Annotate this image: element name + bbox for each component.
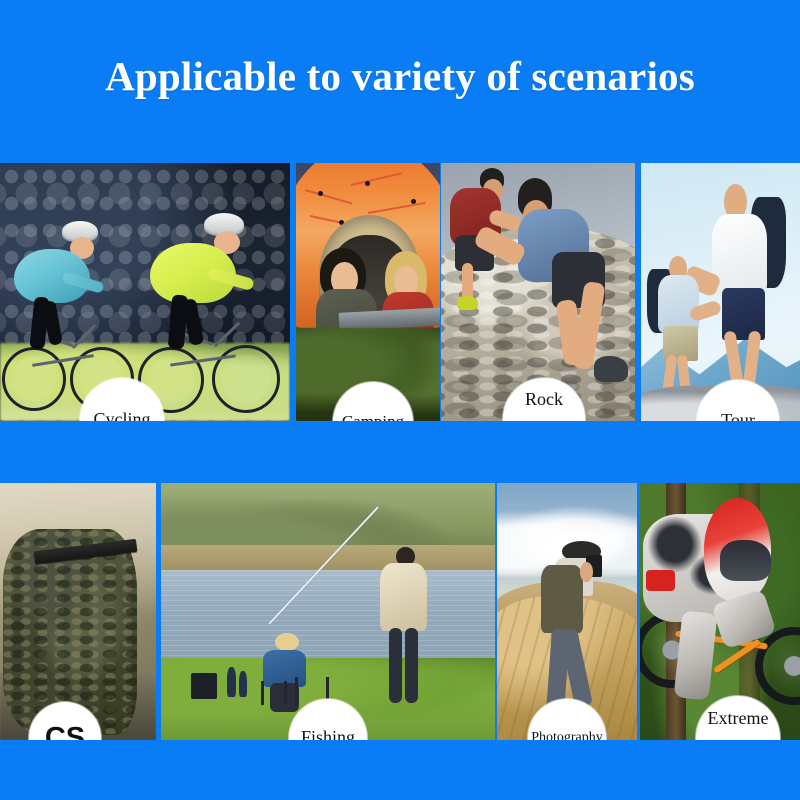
scenario-label-text: CS [43,723,87,740]
scenario-label-text: Rock climbing [508,390,580,421]
scenario-panel-extreme-sport[interactable]: Extreme sport [640,483,800,740]
scenario-label-text: Extreme sport [704,709,773,740]
photo-two-hikers-on-summit [641,163,800,421]
scenario-row-top: Cycling [0,163,800,421]
scenario-panel-rock-climbing[interactable]: Rock climbing [441,163,635,421]
scenario-panel-camping[interactable]: Camping [296,163,440,421]
scenario-panel-cycling[interactable]: Cycling [0,163,290,421]
scenario-panel-photography[interactable]: Photography [497,483,637,740]
photo-two-cyclists-in-rain [0,163,290,421]
scenario-label-text: Fishing [299,728,357,740]
scenario-label-text: Tour [719,411,757,421]
scenario-label-text: Camping [340,413,406,421]
page-title: Applicable to variety of scenarios [0,52,800,100]
scenario-label-text: Photography [529,731,605,740]
scenario-panel-fishing[interactable]: Fishing [161,483,495,740]
scenario-panel-tour[interactable]: Tour [641,163,800,421]
photo-soldier-aiming-rifle [0,483,156,740]
scenario-row-bottom: CS [0,483,800,740]
promo-banner: Applicable to variety of scenarios [0,0,800,800]
scenario-label-text: Cycling [92,410,153,421]
scenario-panel-cs[interactable]: CS [0,483,156,740]
